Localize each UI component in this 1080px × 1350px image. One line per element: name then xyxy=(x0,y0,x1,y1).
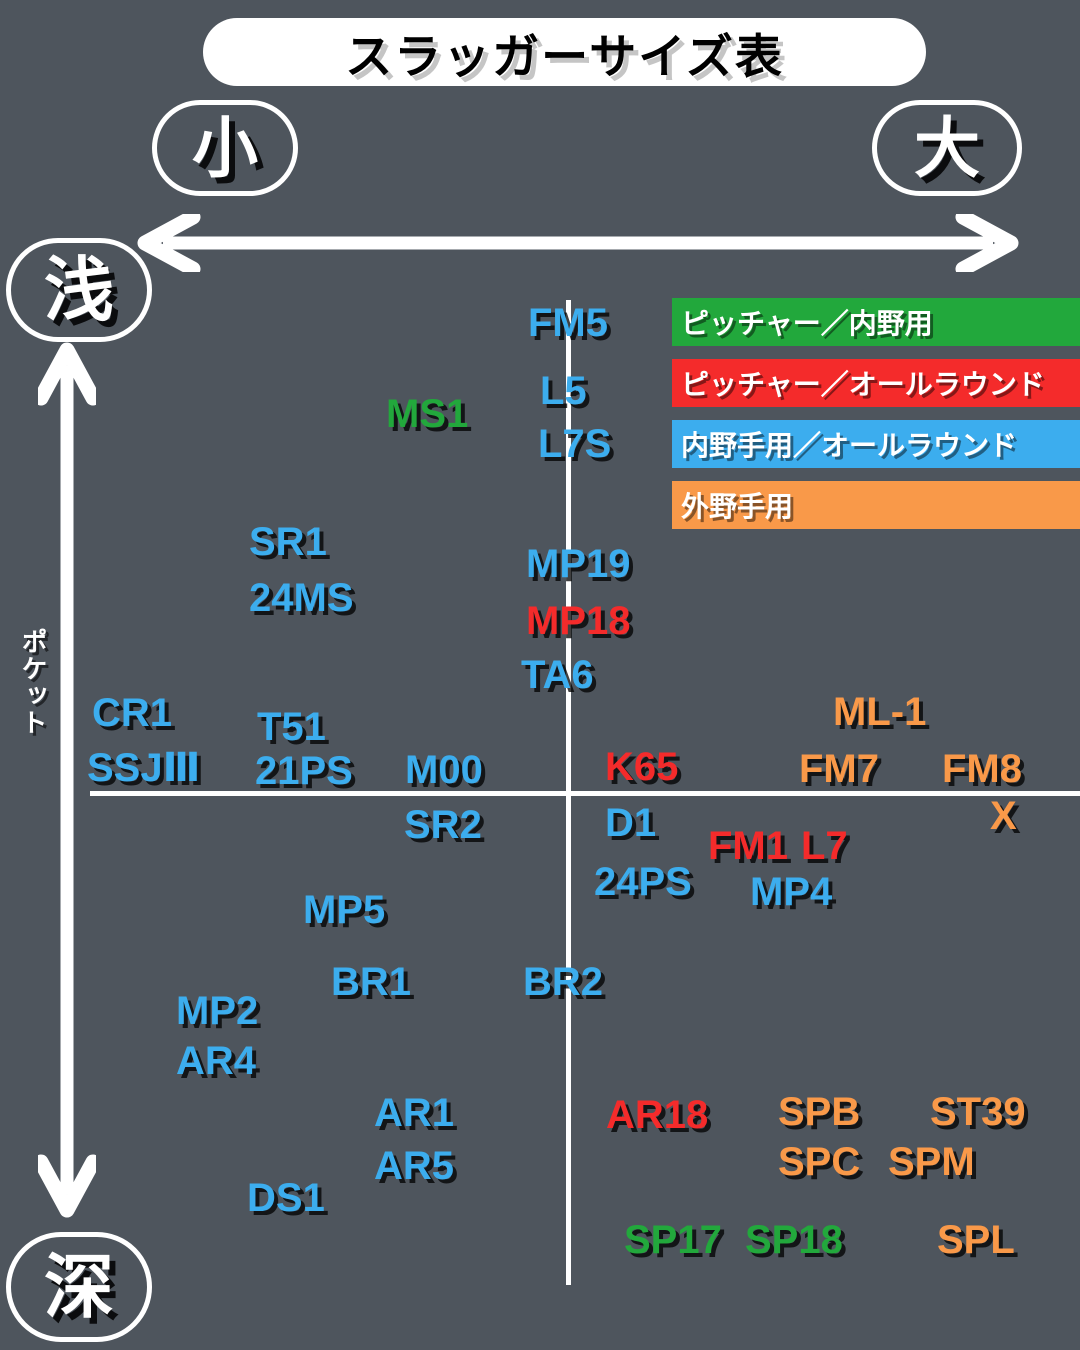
data-point-br1: BR1 xyxy=(331,962,411,1002)
badge-size-large-label: 大 xyxy=(914,115,980,181)
data-point-ar5: AR5 xyxy=(374,1146,454,1186)
data-point-ar1: AR1 xyxy=(374,1093,454,1133)
legend: ピッチャー／内野用ピッチャー／オールラウンド内野手用／オールラウンド外野手用 xyxy=(672,298,1080,542)
data-point-ml-1: ML-1 xyxy=(833,692,926,732)
data-point-ar18: AR18 xyxy=(606,1095,708,1135)
badge-size-small: 小 xyxy=(152,100,298,196)
title-pill: スラッガーサイズ表 xyxy=(203,18,926,86)
data-point-sr2: SR2 xyxy=(404,805,482,845)
data-point-mp18: MP18 xyxy=(526,601,631,641)
size-axis-arrow-icon xyxy=(133,214,1023,272)
data-point-fm5: FM5 xyxy=(528,303,608,343)
data-point-cr1: CR1 xyxy=(92,693,172,733)
legend-item-label: ピッチャー／内野用 xyxy=(681,302,933,342)
slugger-size-chart: スラッガーサイズ表 小 大 浅 深 ポケット ピッチャー／内野用ピッチャー／オー… xyxy=(0,0,1080,1350)
data-point-fm7: FM7 xyxy=(799,749,879,789)
legend-item-label: 外野手用 xyxy=(681,485,793,525)
data-point-sr1: SR1 xyxy=(249,522,327,562)
legend-item-3: 外野手用 xyxy=(672,481,1080,529)
data-point-sp17: SP17 xyxy=(624,1220,722,1260)
data-point-21ps: 21PS xyxy=(255,751,353,791)
data-point-l5: L5 xyxy=(540,371,587,411)
data-point-mp2: MP2 xyxy=(176,991,258,1031)
legend-item-0: ピッチャー／内野用 xyxy=(672,298,1080,346)
data-point-l7: L7 xyxy=(801,826,848,866)
badge-pocket-shallow: 浅 xyxy=(6,238,152,342)
badge-size-small-label: 小 xyxy=(192,115,258,181)
data-point-ssjⅲ: SSJⅢ xyxy=(87,748,200,788)
legend-item-1: ピッチャー／オールラウンド xyxy=(672,359,1080,407)
data-point-ds1: DS1 xyxy=(247,1178,325,1218)
data-point-d1: D1 xyxy=(605,803,656,843)
data-point-l7s: L7S xyxy=(538,424,611,464)
axis-line-horizontal xyxy=(90,791,1080,796)
data-point-spl: SPL xyxy=(937,1220,1015,1260)
data-point-t51: T51 xyxy=(257,707,326,747)
data-point-br2: BR2 xyxy=(523,962,603,1002)
data-point-spm: SPM xyxy=(888,1142,975,1182)
data-point-spb: SPB xyxy=(778,1092,860,1132)
legend-item-label: ピッチャー／オールラウンド xyxy=(681,363,1045,403)
data-point-k65: K65 xyxy=(605,747,678,787)
page-title: スラッガーサイズ表 xyxy=(345,18,784,87)
data-point-fm1: FM1 xyxy=(708,826,788,866)
data-point-sp18: SP18 xyxy=(745,1220,843,1260)
badge-pocket-deep: 深 xyxy=(6,1232,152,1342)
data-point-st39: ST39 xyxy=(930,1092,1026,1132)
pocket-axis-label: ポケット xyxy=(6,628,52,736)
data-point-24ms: 24MS xyxy=(249,578,354,618)
data-point-ms1: MS1 xyxy=(386,394,468,434)
data-point-x: X xyxy=(990,796,1017,836)
legend-item-2: 内野手用／オールラウンド xyxy=(672,420,1080,468)
data-point-24ps: 24PS xyxy=(594,862,692,902)
badge-size-large: 大 xyxy=(872,100,1022,196)
legend-item-label: 内野手用／オールラウンド xyxy=(681,424,1017,464)
badge-pocket-shallow-label: 浅 xyxy=(44,255,114,325)
data-point-mp4: MP4 xyxy=(750,872,832,912)
data-point-spc: SPC xyxy=(778,1142,860,1182)
data-point-mp19: MP19 xyxy=(526,544,631,584)
data-point-fm8: FM8 xyxy=(942,749,1022,789)
data-point-mp5: MP5 xyxy=(303,890,385,930)
data-point-m00: M00 xyxy=(405,750,483,790)
data-point-ta6: TA6 xyxy=(521,655,594,695)
badge-pocket-deep-label: 深 xyxy=(44,1252,114,1322)
data-point-ar4: AR4 xyxy=(176,1041,256,1081)
